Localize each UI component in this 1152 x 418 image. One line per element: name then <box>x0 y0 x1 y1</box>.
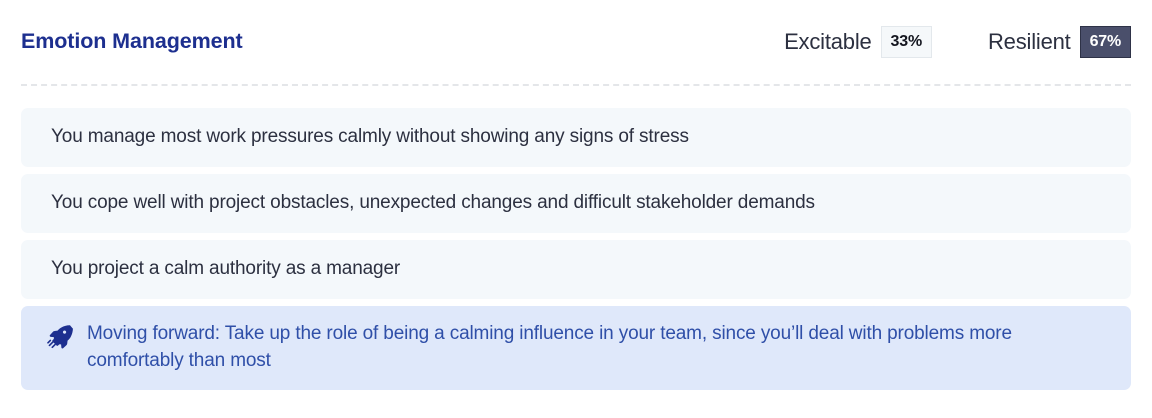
score-resilient: Resilient 67% <box>988 26 1131 58</box>
emotion-management-panel: Emotion Management Excitable 33% Resilie… <box>0 0 1152 418</box>
recommendation-text: Moving forward: Take up the role of bein… <box>87 320 1109 374</box>
list-item: You cope well with project obstacles, un… <box>21 174 1131 233</box>
panel-header: Emotion Management Excitable 33% Resilie… <box>0 0 1152 84</box>
score-excitable: Excitable 33% <box>784 26 932 58</box>
header-divider <box>21 84 1131 86</box>
statement-text: You manage most work pressures calmly wi… <box>51 124 689 150</box>
statement-text: You cope well with project obstacles, un… <box>51 190 815 216</box>
rocket-icon <box>47 323 73 349</box>
list-item: You manage most work pressures calmly wi… <box>21 108 1131 167</box>
score-label-resilient: Resilient <box>988 31 1071 53</box>
score-badge-excitable: 33% <box>881 26 932 58</box>
page-title: Emotion Management <box>21 31 243 53</box>
score-label-excitable: Excitable <box>784 31 871 53</box>
statement-list: You manage most work pressures calmly wi… <box>21 108 1131 390</box>
score-group: Excitable 33% Resilient 67% <box>784 26 1131 58</box>
list-item-recommendation: Moving forward: Take up the role of bein… <box>21 306 1131 390</box>
list-item: You project a calm authority as a manage… <box>21 240 1131 299</box>
statement-text: You project a calm authority as a manage… <box>51 256 400 282</box>
score-badge-resilient: 67% <box>1080 26 1131 58</box>
